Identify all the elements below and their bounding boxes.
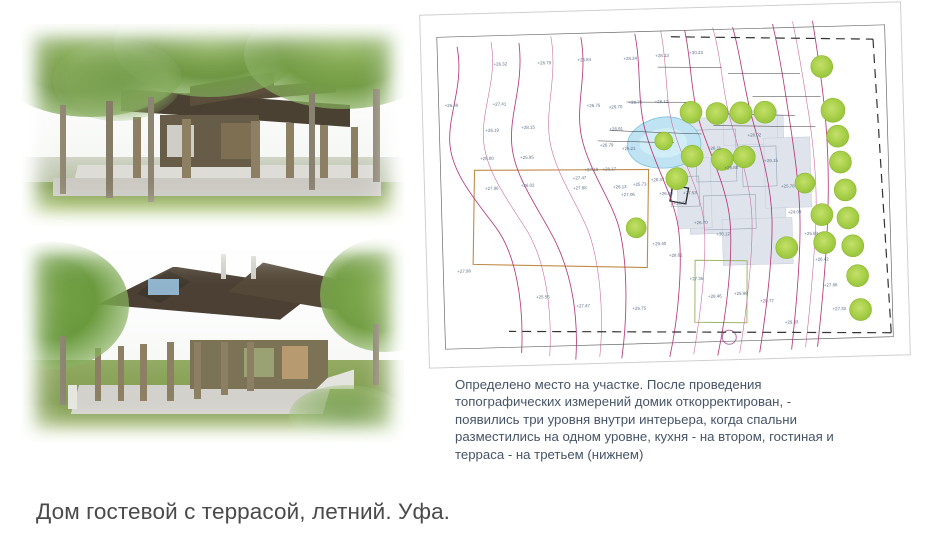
svg-text:+26.19: +26.19: [485, 128, 499, 133]
topographic-plan-sheet: +26.48 +26.32 +27.41 +26.79 +26.84 +28.3…: [419, 1, 911, 368]
tree-marker: [810, 55, 833, 78]
tree-trunk: [373, 89, 379, 182]
post: [167, 342, 174, 401]
tree-marker: [626, 218, 647, 239]
svg-text:+26.13: +26.13: [613, 184, 627, 189]
post: [182, 119, 190, 178]
svg-text:+28.77: +28.77: [760, 298, 774, 303]
svg-text:+28.46: +28.46: [708, 293, 722, 298]
tree-canopy: [53, 40, 183, 121]
door: [282, 346, 309, 379]
presentation-slide: +26.48 +26.32 +27.41 +26.79 +26.84 +28.3…: [0, 0, 941, 542]
guest-house-scene: [22, 238, 404, 442]
svg-text:+25.98: +25.98: [734, 291, 748, 296]
svg-text:+28.61: +28.61: [669, 253, 683, 258]
svg-text:+29.15: +29.15: [764, 158, 778, 163]
svg-text:+26.39: +26.39: [659, 191, 673, 196]
svg-text:+28.13: +28.13: [655, 53, 669, 58]
tree-marker: [826, 125, 849, 148]
post: [118, 346, 125, 401]
svg-text:+28.17: +28.17: [602, 166, 616, 171]
svg-text:+26.88: +26.88: [724, 165, 738, 170]
tree-marker: [730, 102, 753, 125]
svg-text:+25.68: +25.68: [804, 231, 818, 236]
svg-text:+28.02: +28.02: [748, 132, 762, 137]
tree-marker: [754, 101, 777, 124]
tree-marker: [829, 151, 852, 174]
tree-marker: [846, 264, 869, 287]
svg-text:+26.70: +26.70: [694, 220, 708, 225]
doorway: [221, 123, 252, 159]
svg-text:+27.33: +27.33: [832, 306, 846, 311]
svg-text:+27.06: +27.06: [621, 192, 635, 197]
tree-marker: [837, 207, 860, 230]
tree-trunk: [60, 105, 66, 194]
svg-text:+27.88: +27.88: [573, 185, 587, 190]
pavilion-scene: [22, 24, 404, 226]
svg-text:+27.47: +27.47: [576, 303, 590, 308]
svg-text:+28.78: +28.78: [629, 100, 643, 105]
tree-marker: [706, 102, 729, 125]
description-paragraph: Определено место на участке. После прове…: [455, 376, 907, 463]
svg-text:+26.42: +26.42: [815, 256, 829, 261]
svg-text:+27.98: +27.98: [485, 186, 499, 191]
svg-text:+27.19: +27.19: [584, 167, 598, 172]
bollard-light: [68, 385, 77, 409]
tree-trunk: [373, 324, 378, 385]
svg-text:+26.37: +26.37: [651, 177, 665, 182]
svg-text:+27.35: +27.35: [690, 276, 704, 281]
svg-text:+25.78: +25.78: [781, 183, 795, 188]
tree-marker: [821, 98, 846, 123]
svg-text:+28.15: +28.15: [521, 125, 535, 130]
svg-text:+26.32: +26.32: [493, 61, 507, 66]
slide-title: Дом гостевой с террасой, летний. Уфа.: [36, 498, 450, 526]
svg-text:+29.40: +29.40: [653, 241, 667, 246]
tree-marker: [795, 173, 816, 194]
tree-marker: [811, 203, 834, 226]
svg-text:+27.53: +27.53: [683, 190, 697, 195]
svg-text:+26.70: +26.70: [609, 104, 623, 109]
post: [247, 342, 254, 391]
post: [286, 123, 294, 178]
svg-text:+26.73: +26.73: [673, 200, 687, 205]
tree-marker: [775, 236, 798, 259]
tree-marker: [680, 101, 703, 124]
post: [351, 127, 359, 178]
svg-text:+26.84: +26.84: [577, 57, 591, 62]
svg-text:+27.98: +27.98: [457, 268, 471, 273]
chimney: [221, 254, 226, 278]
svg-text:+25.56: +25.56: [536, 294, 550, 299]
photo-guest-house-render: [22, 238, 404, 442]
tree-marker: [655, 132, 673, 150]
svg-text:+25.73: +25.73: [633, 182, 647, 187]
tree-trunk: [309, 93, 315, 190]
tree-marker: [834, 179, 857, 202]
svg-text:+27.88: +27.88: [824, 282, 838, 287]
svg-text:+26.91: +26.91: [609, 126, 623, 131]
tree-marker: [849, 298, 872, 321]
svg-text:+26.48: +26.48: [445, 103, 459, 108]
svg-text:+26.79: +26.79: [537, 60, 551, 65]
svg-text:+30.12: +30.12: [716, 231, 730, 236]
post: [194, 342, 201, 399]
svg-text:+26.79: +26.79: [600, 142, 614, 147]
svg-text:+28.11: +28.11: [708, 145, 722, 150]
svg-text:+25.21: +25.21: [622, 146, 636, 151]
svg-text:+30.23: +30.23: [689, 50, 703, 55]
post: [221, 342, 228, 395]
svg-text:+26.02: +26.02: [521, 183, 535, 188]
svg-text:+27.41: +27.41: [493, 101, 507, 106]
dormer-window: [148, 279, 179, 295]
tree-trunk: [106, 101, 113, 198]
post: [320, 125, 328, 178]
svg-text:+26.12: +26.12: [655, 99, 669, 104]
post: [133, 117, 141, 178]
svg-text:+26.75: +26.75: [632, 306, 646, 311]
chimney: [251, 256, 256, 278]
tree-trunk: [60, 336, 66, 405]
tree-trunk: [148, 97, 154, 202]
svg-text:+25.95: +25.95: [520, 155, 534, 160]
svg-text:+28.34: +28.34: [623, 56, 637, 61]
photo-pavilion-render: [22, 24, 404, 226]
tree-marker: [841, 234, 864, 257]
terrace-deck-edge: [53, 178, 382, 196]
svg-text:+24.09: +24.09: [788, 209, 802, 214]
topographic-plan-container: +26.48 +26.32 +27.41 +26.79 +26.84 +28.3…: [424, 8, 922, 380]
svg-text:+26.75: +26.75: [587, 103, 601, 108]
topographic-plan-drawing: +26.48 +26.32 +27.41 +26.79 +26.84 +28.3…: [420, 2, 910, 367]
svg-text:+29.33: +29.33: [785, 319, 799, 324]
tree-marker: [666, 167, 689, 190]
tree-marker: [681, 145, 704, 168]
shrub: [289, 385, 404, 442]
svg-text:+27.47: +27.47: [573, 175, 587, 180]
post: [251, 121, 259, 178]
svg-text:+28.00: +28.00: [480, 156, 494, 161]
post: [140, 344, 147, 401]
